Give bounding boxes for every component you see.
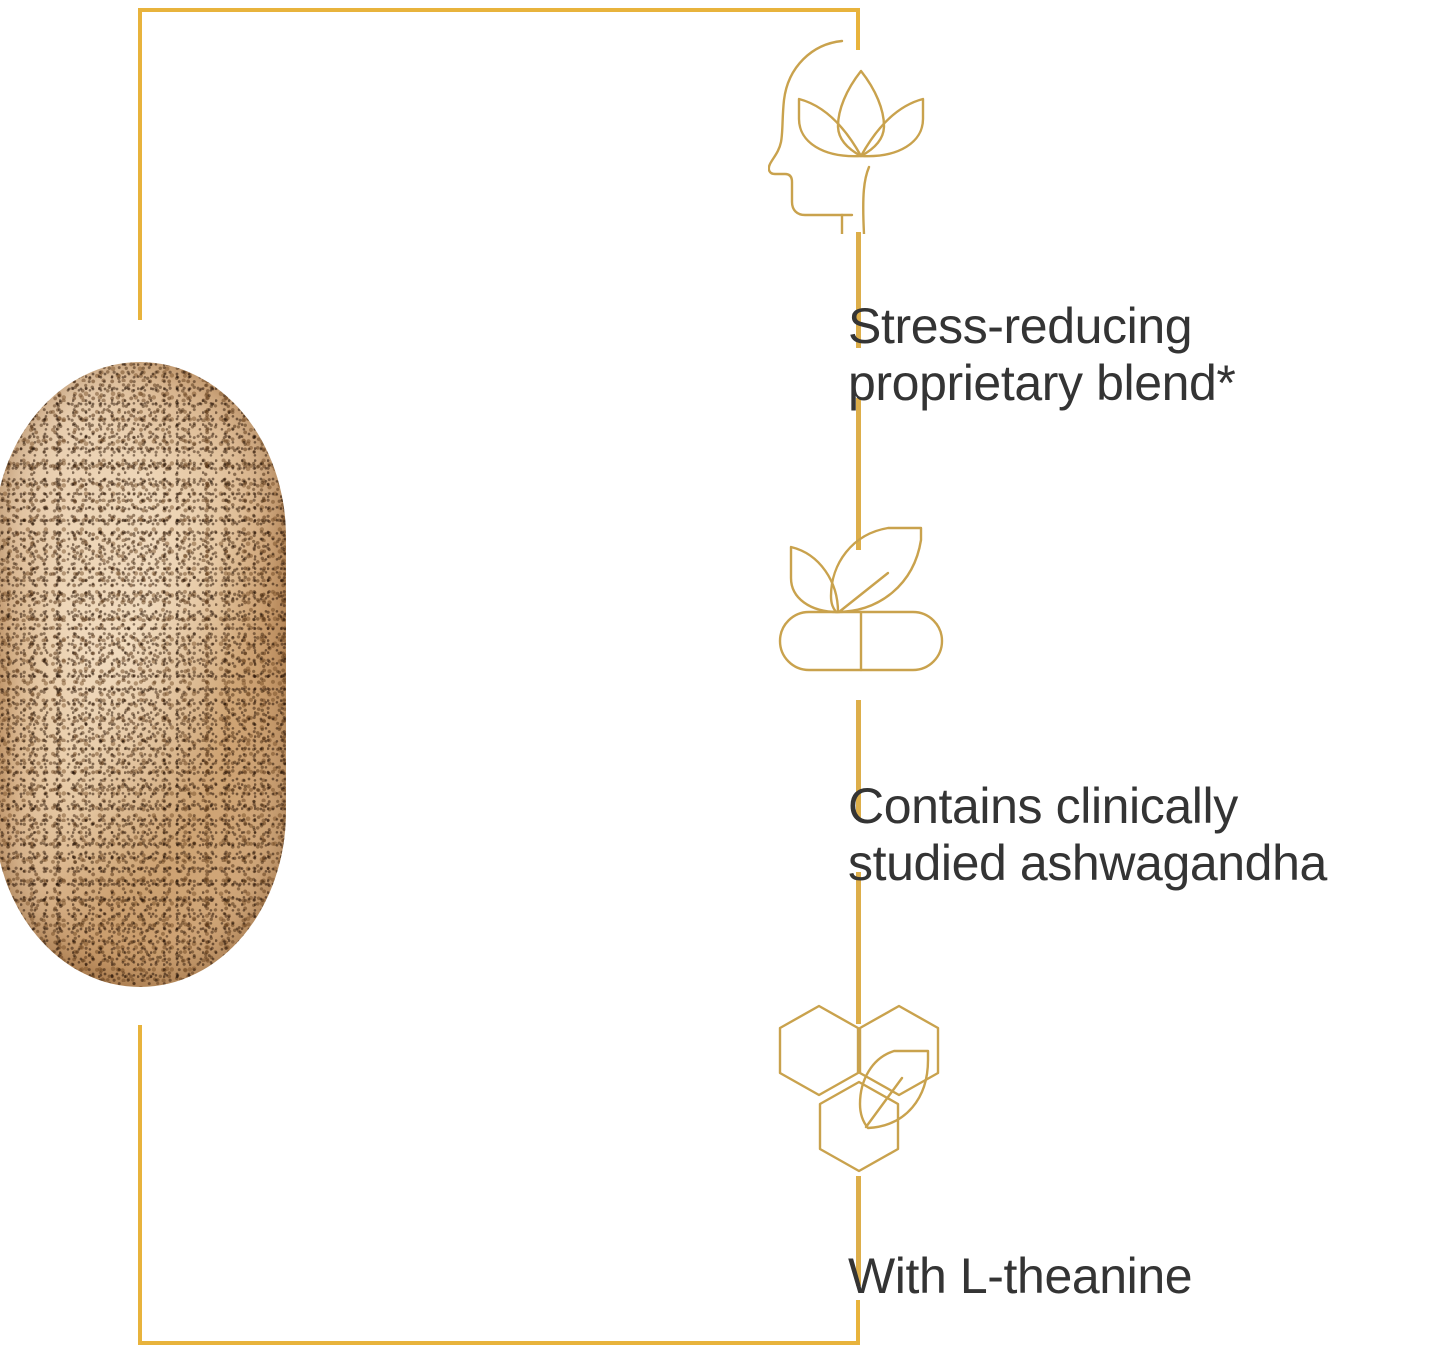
tablet-surface <box>0 362 286 987</box>
bracket-bottom-tick <box>856 1300 860 1345</box>
head-lotus-icon <box>768 34 954 239</box>
feature-label-ashwagandha: Contains clinically studied ashwagandha <box>848 778 1327 892</box>
feature-label-stress-reducing: Stress-reducing proprietary blend* <box>848 298 1235 412</box>
feature-label-l-theanine: With L-theanine <box>848 1248 1192 1305</box>
infographic-canvas: Stress-reducing proprietary blend* Conta… <box>0 0 1445 1355</box>
capsule-leaves-icon <box>776 516 946 679</box>
honeycomb-leaf-icon <box>776 1002 946 1179</box>
bracket-bottom-horizontal <box>138 1341 860 1345</box>
bracket-top-vertical <box>138 8 142 320</box>
bracket-bottom-vertical <box>138 1025 142 1345</box>
product-tablet <box>0 362 286 987</box>
bracket-top-horizontal <box>138 8 860 12</box>
